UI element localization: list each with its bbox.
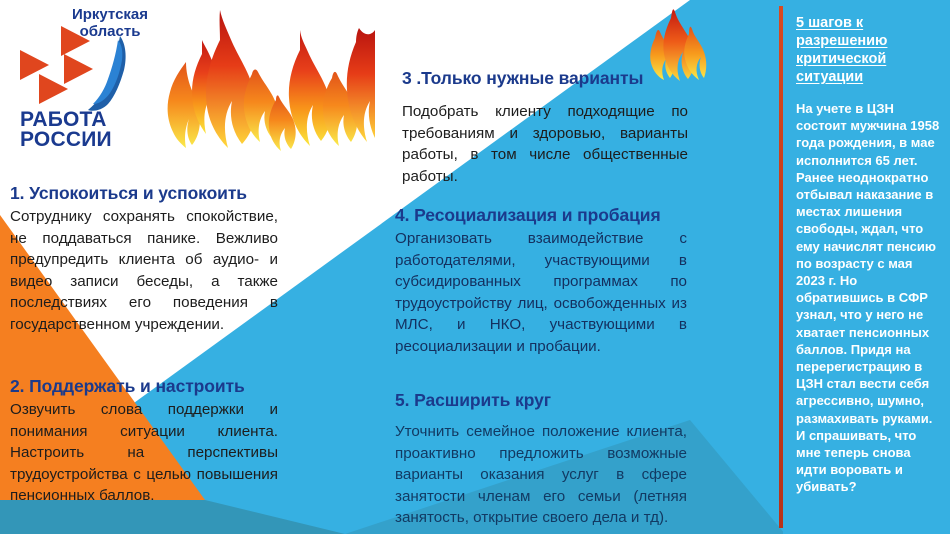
step-5-heading: 5. Расширить круг — [395, 390, 687, 411]
step-4-heading: 4. Ресоциализация и пробация — [395, 205, 687, 226]
poster-canvas: РАБОТА РОССИИ Иркутская область — [0, 0, 950, 534]
step-1-heading: 1. Успокоиться и успокоить — [10, 183, 278, 204]
step-block-1: 1. Успокоиться и успокоить Сотруднику со… — [10, 183, 278, 335]
step-2-heading: 2. Поддержать и настроить — [10, 376, 278, 397]
step-block-4: 4. Ресоциализация и пробация Организоват… — [395, 205, 687, 357]
step-5-body: Уточнить семейное положение клиента, про… — [395, 421, 687, 529]
step-4-body: Организовать взаимодействие с работодате… — [395, 228, 687, 357]
logo-wordmark: РАБОТА РОССИИ — [20, 110, 150, 150]
case-story-body: На учете в ЦЗН состоит мужчина 1958 года… — [796, 100, 942, 496]
case-story-title: 5 шагов к разрешению критической ситуаци… — [796, 14, 942, 86]
step-3-heading: 3 .Только нужные варианты — [402, 68, 688, 89]
step-1-body: Сотруднику сохранять спокойствие, не под… — [10, 206, 278, 335]
panel-divider — [779, 6, 783, 528]
case-story-panel: 5 шагов к разрешению критической ситуаци… — [786, 0, 950, 534]
logo-word-line2: РОССИИ — [20, 130, 150, 150]
step-block-5: 5. Расширить круг Уточнить семейное поло… — [395, 390, 687, 529]
step-2-body: Озвучить слова поддержки и понимания сит… — [10, 399, 278, 507]
step-3-body: Подобрать клиенту подходящие по требован… — [402, 101, 688, 187]
flame-illustration-icon — [140, 8, 375, 183]
logo-word-line1: РАБОТА — [20, 110, 150, 130]
step-block-3: 3 .Только нужные варианты Подобрать клие… — [402, 68, 688, 187]
step-block-2: 2. Поддержать и настроить Озвучить слова… — [10, 376, 278, 507]
